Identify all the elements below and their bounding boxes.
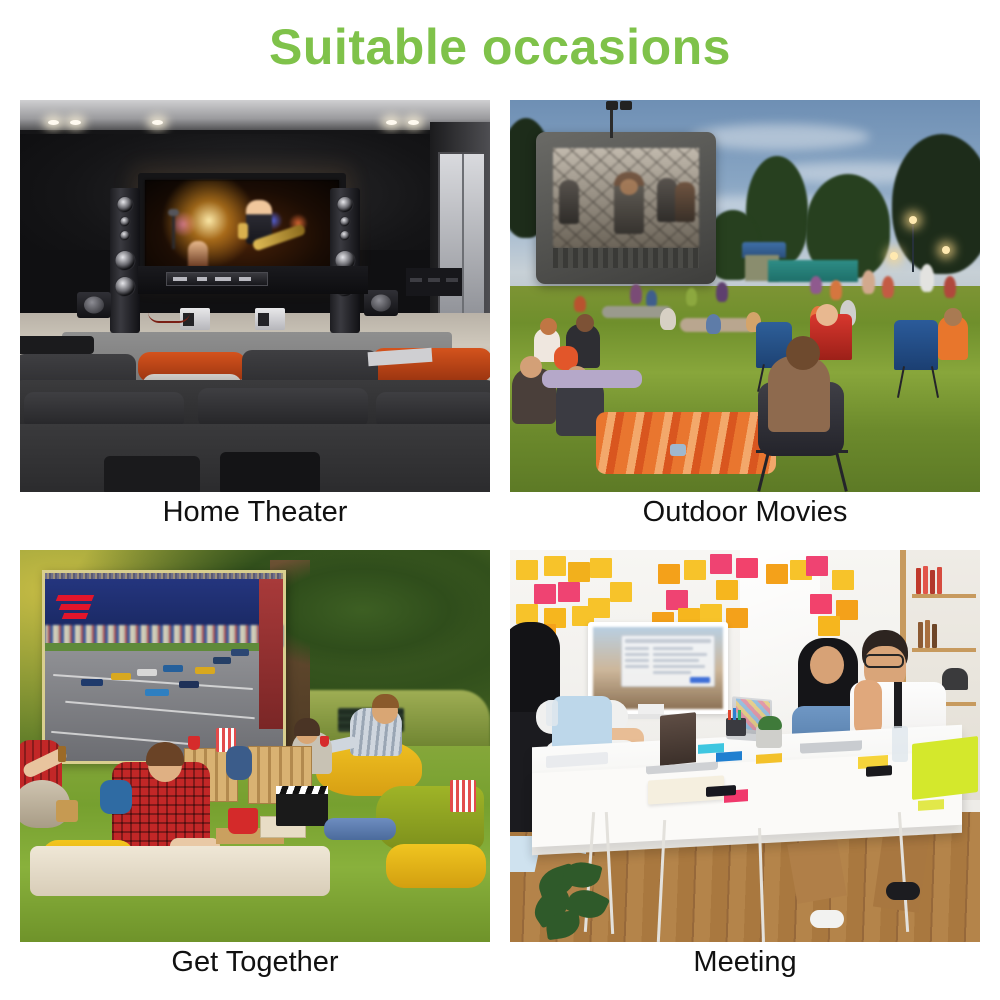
race-car (111, 673, 131, 680)
spectator (660, 308, 676, 330)
race-car (231, 649, 249, 656)
home-theater-screen (138, 173, 346, 279)
caption-meeting: Meeting (510, 946, 980, 979)
water-bottle (546, 700, 558, 726)
colleague-arm (854, 680, 882, 736)
sticky-note (534, 584, 556, 604)
spectator-head (540, 318, 557, 335)
sticky-note (716, 751, 742, 762)
sticky-note (516, 560, 538, 580)
light-pole (610, 106, 613, 138)
picnic-basket (56, 800, 78, 822)
camping-chair (894, 320, 938, 370)
ceiling-downlight (70, 120, 81, 125)
spectator (944, 276, 956, 298)
occasion-card-home-theater[interactable]: Home Theater (20, 100, 490, 545)
race-car (137, 669, 157, 676)
guest-hair (372, 694, 399, 708)
occasions-grid: Home Theater (20, 100, 980, 980)
side-console (406, 268, 462, 296)
occasion-card-outdoor-movies[interactable]: Outdoor Movies (510, 100, 980, 545)
spectator-head (816, 304, 838, 326)
sticky-note (736, 558, 758, 578)
screen-image (145, 180, 339, 272)
inflatable-projection-screen (536, 132, 716, 284)
monitor-screen (593, 627, 723, 709)
caption-home-theater: Home Theater (20, 496, 490, 529)
bottle (58, 746, 66, 762)
home-theater-photo (20, 100, 490, 492)
smartphone[interactable] (866, 765, 892, 777)
sticky-note (666, 590, 688, 610)
product-feature-image: Suitable occasions (0, 0, 1000, 1000)
race-car (213, 657, 231, 664)
sticky-note (918, 799, 944, 811)
popcorn-bucket (450, 780, 476, 812)
chair-legs (787, 836, 847, 904)
sofa-back-cushion (198, 388, 368, 428)
red-cup (320, 736, 329, 747)
sticky-note (558, 582, 580, 602)
water-bottle (670, 444, 686, 456)
spectator (706, 314, 721, 334)
ceiling-downlight (386, 120, 397, 125)
spectator-head (786, 336, 820, 370)
red-cup (188, 736, 200, 750)
spectator-head (944, 308, 962, 326)
distant-light (890, 252, 898, 260)
ceiling-downlight (408, 120, 419, 125)
spectator (810, 276, 822, 294)
sticky-note (810, 594, 832, 614)
cloud (690, 124, 870, 150)
sticky-note (806, 556, 828, 576)
sticky-note (818, 616, 840, 636)
on-screen-microphone (172, 215, 175, 249)
pen (733, 708, 736, 720)
office-chair (552, 696, 612, 750)
center-speaker-right (255, 308, 285, 330)
sticky-note (516, 604, 538, 624)
pen (738, 710, 741, 720)
spectator (862, 270, 875, 294)
spectator-head (520, 356, 542, 378)
guest-torso (226, 746, 252, 780)
foreground-plant (528, 862, 618, 942)
sticky-note (568, 562, 590, 582)
sticky-note (590, 558, 612, 578)
on-screen-backing-singer (188, 241, 208, 267)
sticky-note (684, 560, 706, 580)
sticky-note (766, 564, 788, 584)
subwoofer-right (364, 290, 398, 316)
foreground-cushion (220, 452, 320, 492)
street-light (912, 220, 914, 272)
occasion-card-get-together[interactable]: Get Together (20, 550, 490, 995)
race-car (195, 667, 215, 674)
yellow-bean-bag (386, 844, 486, 888)
on-screen-guitar-body (238, 223, 248, 239)
window (438, 152, 486, 324)
green-laptop[interactable] (912, 736, 978, 800)
sneaker (810, 910, 844, 928)
get-together-photo (20, 550, 490, 942)
orange-picnic-blanket (596, 412, 776, 474)
spectator (630, 284, 642, 304)
guest-hair (294, 718, 320, 736)
tower-speaker-left (110, 188, 140, 333)
sticky-note (610, 582, 632, 602)
sticky-note (658, 564, 680, 584)
sticky-note (832, 570, 854, 590)
guest-jeans (324, 818, 396, 840)
sticky-note (726, 608, 748, 628)
speaker-cable (148, 312, 190, 323)
projection-surface (553, 148, 699, 248)
ceiling-downlight (48, 120, 59, 125)
spectator-head (576, 314, 594, 332)
succulent (758, 716, 782, 730)
track-wall-right (259, 579, 283, 729)
trackside-barrier (45, 579, 283, 625)
distant-light (942, 246, 950, 254)
av-equipment (166, 272, 268, 286)
caption-get-together: Get Together (20, 946, 490, 979)
caption-outdoor-movies: Outdoor Movies (510, 496, 980, 529)
pen-holder (726, 718, 746, 736)
spectator (716, 282, 728, 302)
occasion-card-meeting[interactable]: Meeting (510, 550, 980, 995)
application-window (621, 635, 715, 687)
sticky-note (700, 604, 722, 624)
sticky-note (544, 556, 566, 576)
water-glass (892, 726, 908, 762)
spectator (830, 280, 842, 300)
tower-speaker-right (330, 188, 360, 333)
colleague-face (810, 646, 844, 684)
pen (728, 710, 731, 720)
eyeglasses-icon (864, 654, 904, 668)
shoe (886, 882, 920, 900)
picnic-blanket (542, 370, 642, 388)
page-title: Suitable occasions (0, 18, 1000, 76)
race-car (145, 689, 169, 696)
sticky-note (710, 554, 732, 574)
ceiling (20, 100, 490, 134)
sticky-note (716, 580, 738, 600)
clapperboard (276, 786, 328, 826)
spectator (882, 276, 894, 298)
race-car (81, 679, 103, 686)
tree-canopy (258, 550, 490, 670)
meeting-photo (510, 550, 980, 942)
race-car (163, 665, 183, 672)
red-popcorn-bucket (228, 808, 258, 834)
sticky-note (756, 753, 782, 764)
spectator (574, 296, 586, 312)
chair-frame (756, 450, 848, 453)
ceiling-downlight (152, 120, 163, 125)
outdoor-movies-photo (510, 100, 980, 492)
foreground-cushion (104, 456, 200, 492)
guest-leg (100, 780, 132, 814)
sticky-note (588, 598, 610, 618)
tree (892, 134, 980, 274)
picnic-blanket (30, 846, 330, 896)
race-car (179, 681, 199, 688)
screen-skirt (553, 248, 699, 268)
ottoman (20, 336, 94, 354)
outdoor-projection-screen (42, 570, 286, 764)
spectator (686, 288, 697, 306)
smartphone[interactable] (706, 785, 736, 797)
subwoofer-left (77, 292, 111, 318)
spectator-standing (920, 264, 934, 292)
f1-logo (57, 593, 121, 619)
